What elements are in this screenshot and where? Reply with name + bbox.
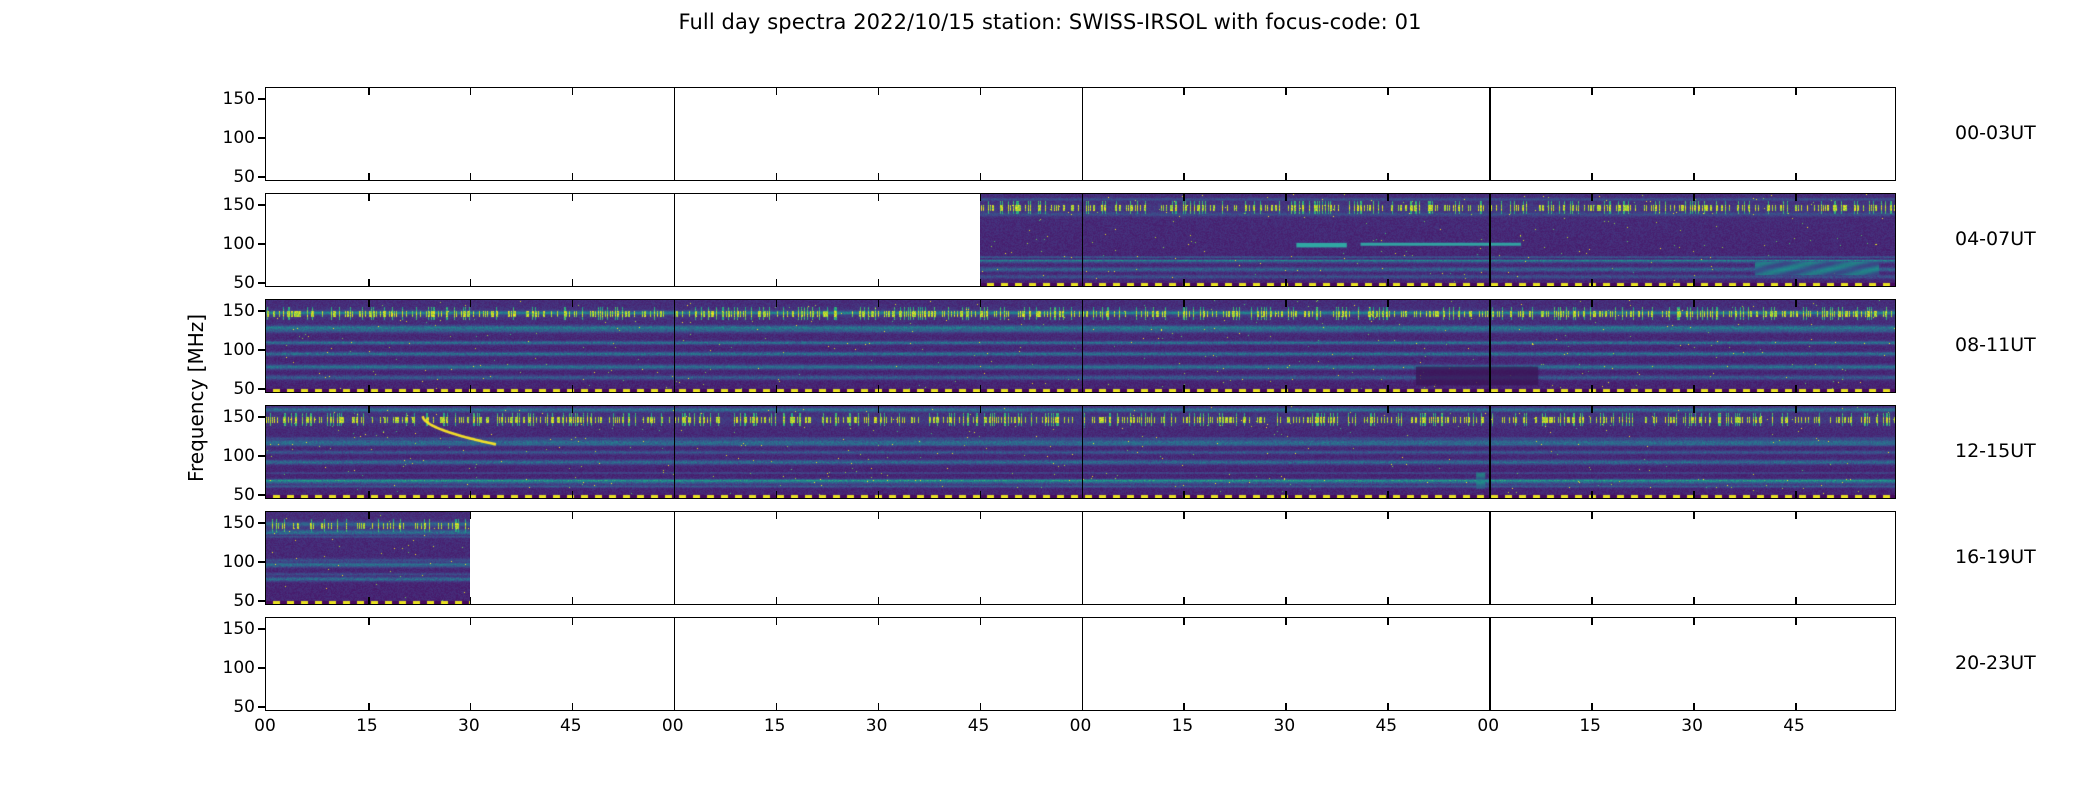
panel-time-label-16-19ut: 16-19UT [1955,546,2036,568]
y-tick-mark [258,706,265,708]
x-tick-label: 00 [1070,716,1092,736]
x-tick-label: 15 [1579,716,1601,736]
spectrogram-panel-12-15ut [265,405,1896,499]
x-tick-label: 45 [1375,716,1397,736]
spectrogram-panel-08-11ut [265,299,1896,393]
spectrogram-grid [265,87,1896,711]
y-tick-label: 150 [195,513,255,533]
x-tick-label: 00 [254,716,276,736]
y-tick-label: 50 [195,167,255,187]
y-tick-mark [258,628,265,630]
page-title: Full day spectra 2022/10/15 station: SWI… [0,10,2100,34]
panel-time-label-04-07ut: 04-07UT [1955,228,2036,250]
y-tick-mark [258,204,265,206]
y-tick-label: 100 [195,340,255,360]
y-tick-label: 50 [195,273,255,293]
y-tick-label: 150 [195,619,255,639]
spectrogram-image [266,300,1896,393]
spectrogram-image [266,512,470,605]
y-tick-label: 50 [195,591,255,611]
spectrogram-image [266,406,1896,499]
y-tick-label: 50 [195,697,255,717]
y-tick-mark [258,600,265,602]
y-tick-label: 150 [195,195,255,215]
y-tick-label: 100 [195,446,255,466]
x-tick-label: 30 [1681,716,1703,736]
y-tick-mark [258,561,265,563]
x-tick-label: 30 [866,716,888,736]
x-tick-label: 15 [356,716,378,736]
spectrogram-panel-16-19ut [265,511,1896,605]
panel-gridlines [266,88,1895,180]
y-tick-label: 100 [195,234,255,254]
panel-time-label-08-11ut: 08-11UT [1955,334,2036,356]
y-tick-label: 50 [195,485,255,505]
y-tick-label: 150 [195,89,255,109]
y-tick-mark [258,310,265,312]
y-tick-mark [258,349,265,351]
x-tick-label: 00 [662,716,684,736]
x-tick-label: 45 [1783,716,1805,736]
y-tick-mark [258,243,265,245]
panel-gridlines [266,512,1895,604]
panel-time-label-20-23ut: 20-23UT [1955,652,2036,674]
y-tick-label: 100 [195,552,255,572]
y-tick-label: 50 [195,379,255,399]
spectrogram-image [980,194,1896,287]
panel-gridlines [266,618,1895,710]
y-tick-label: 150 [195,301,255,321]
x-tick-label: 30 [458,716,480,736]
x-tick-label: 30 [1274,716,1296,736]
y-tick-mark [258,98,265,100]
spectrogram-panel-04-07ut [265,193,1896,287]
y-tick-mark [258,176,265,178]
x-tick-label: 45 [560,716,582,736]
x-tick-label: 15 [1172,716,1194,736]
x-tick-label: 15 [764,716,786,736]
y-tick-mark [258,137,265,139]
y-tick-mark [258,522,265,524]
y-tick-label: 100 [195,658,255,678]
y-tick-mark [258,282,265,284]
y-tick-label: 100 [195,128,255,148]
spectrogram-panel-00-03ut [265,87,1896,181]
panel-time-label-12-15ut: 12-15UT [1955,440,2036,462]
x-tick-label: 00 [1477,716,1499,736]
y-tick-mark [258,455,265,457]
y-tick-label: 150 [195,407,255,427]
x-tick-label: 45 [968,716,990,736]
panel-time-label-00-03ut: 00-03UT [1955,122,2036,144]
y-tick-mark [258,388,265,390]
y-tick-mark [258,416,265,418]
y-tick-mark [258,494,265,496]
y-tick-mark [258,667,265,669]
spectrogram-panel-20-23ut [265,617,1896,711]
